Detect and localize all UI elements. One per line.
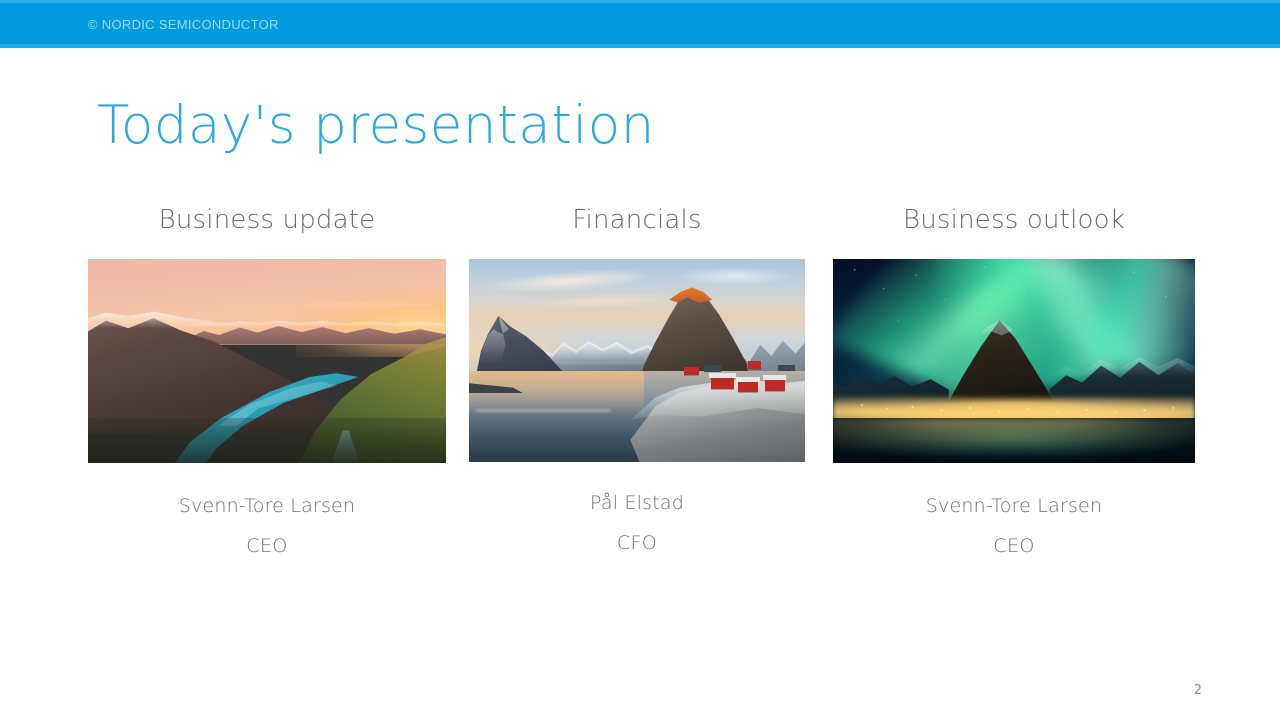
column-financials: Financials: [469, 205, 805, 554]
photo2-dark-shed: [778, 365, 795, 371]
photo1-foreground-shadow: [88, 418, 446, 463]
lofoten-winter-village-photo: [469, 259, 805, 462]
photo2-cabin: [738, 381, 758, 392]
person-name: Pål Elstad: [469, 492, 805, 514]
header-top-accent: [0, 0, 1280, 3]
person-name: Svenn-Tore Larsen: [833, 495, 1195, 517]
photo2-cabin: [748, 361, 761, 369]
copyright-notice: © NORDIC SEMICONDUCTOR: [88, 17, 279, 32]
page-title: Today's presentation: [97, 95, 655, 157]
column-business-update: Business update Svenn-Tore Larsen CEO: [88, 205, 446, 557]
column-business-outlook: Business outlook Svenn-Tore: [833, 205, 1195, 557]
person-role: CEO: [833, 535, 1195, 557]
photo2-dark-shed: [704, 365, 721, 372]
person-name: Svenn-Tore Larsen: [88, 495, 446, 517]
page-number: 2: [1194, 683, 1202, 698]
photo1-cloud: [296, 302, 432, 307]
photo2-red-cabins: [469, 259, 805, 462]
photo2-cabin: [711, 377, 735, 389]
header-bottom-accent: [0, 44, 1280, 48]
photo2-cabin: [765, 379, 785, 391]
photo3-water-reflection: [833, 418, 1195, 463]
person-role: CFO: [469, 532, 805, 554]
northern-lights-village-photo: [833, 259, 1195, 463]
column-heading: Financials: [469, 205, 805, 235]
column-heading: Business outlook: [833, 205, 1195, 235]
person-role: CEO: [88, 535, 446, 557]
slide: © NORDIC SEMICONDUCTOR Today's presentat…: [0, 0, 1280, 720]
column-heading: Business update: [88, 205, 446, 235]
header-bar: © NORDIC SEMICONDUCTOR: [0, 0, 1280, 48]
photo2-cabin: [684, 367, 699, 375]
fjord-sunset-photo: [88, 259, 446, 463]
